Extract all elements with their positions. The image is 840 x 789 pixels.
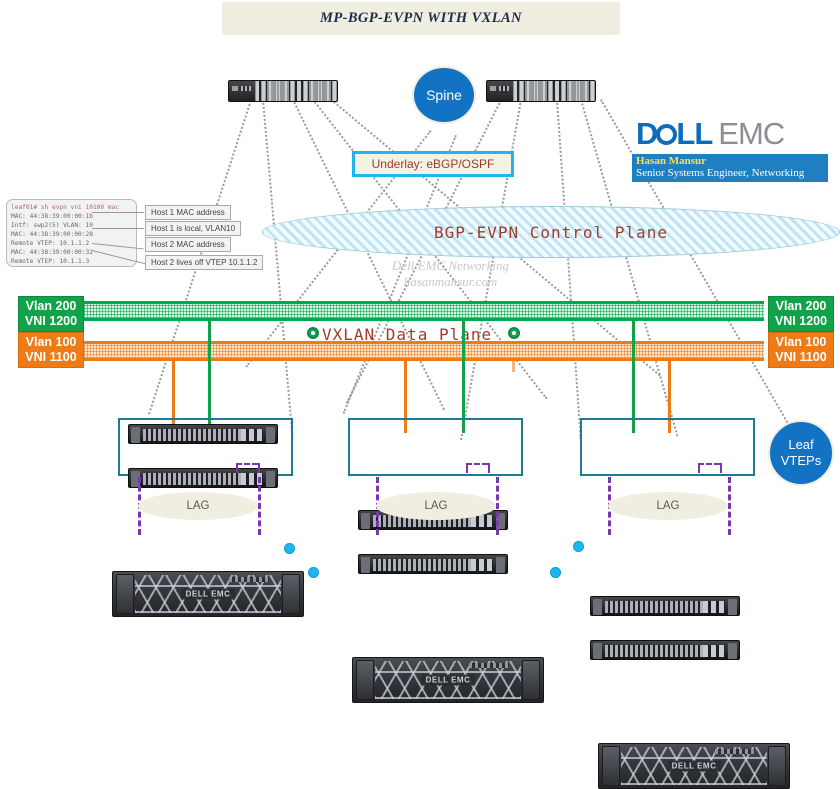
vlt-peer-link	[720, 463, 722, 473]
rack-ear	[361, 557, 370, 573]
underlay-callout-box: Underlay: eBGP/OSPF	[352, 151, 514, 177]
vxlan-segment-vni1200	[84, 301, 764, 321]
leaf-vtep-group-3	[580, 418, 755, 476]
leaf-vtep-group-2	[348, 418, 523, 476]
callout-label: Host 2 MAC address	[151, 240, 225, 249]
server-bay	[768, 746, 786, 786]
vni1200-downlink	[632, 318, 635, 433]
control-plane-label: BGP-EVPN Control Plane	[434, 223, 668, 242]
vlt-peer-link	[466, 463, 468, 473]
watermark-line-1: Dell EMC Networking	[392, 258, 509, 274]
lag-ellipse-3: LAG	[608, 492, 728, 520]
dell-letters-ll: LL	[676, 116, 712, 152]
leaf-switch-1a[interactable]	[128, 424, 278, 444]
vni1100-stub	[512, 358, 515, 372]
vlt-peer-link	[466, 463, 488, 465]
vtep-marker-right	[508, 327, 520, 339]
server-logo: DELL EMC	[668, 761, 721, 772]
switch-port-bank	[143, 429, 241, 441]
vlt-peer-link	[236, 463, 258, 465]
author-role: Senior Systems Engineer, Networking	[636, 167, 824, 180]
vni-id: VNI 1200	[25, 314, 77, 329]
cli-line: MAC: 44:38:39:00:00:1b	[11, 212, 132, 221]
vlan-id: Vlan 200	[776, 299, 827, 314]
lag-ellipse-1: LAG	[138, 492, 258, 520]
page-title-banner: MP-BGP-EVPN WITH VXLAN	[222, 2, 620, 35]
lag-member-link	[728, 477, 731, 535]
server-bay	[602, 746, 620, 786]
server-3[interactable]: DELL EMC	[598, 743, 790, 789]
leaf-vteps-label-bubble: Leaf VTEPs	[768, 420, 834, 486]
page-title: MP-BGP-EVPN WITH VXLAN	[320, 10, 522, 27]
lag-member-link	[258, 477, 261, 535]
rack-ear	[131, 427, 140, 443]
callout-host2-mac: Host 2 MAC address	[145, 237, 231, 252]
underlay-link	[556, 100, 582, 439]
switch-mgmt-panel	[229, 81, 256, 101]
dell-letter-d: D	[636, 116, 657, 152]
dell-emc-logo: DLL EMC Hasan Mansur Senior Systems Engi…	[632, 114, 828, 182]
lag-label: LAG	[424, 500, 447, 512]
server-status-leds	[469, 663, 509, 668]
vtep-marker-left	[307, 327, 319, 339]
switch-uplink-bank	[703, 645, 725, 657]
server-logo: DELL EMC	[182, 589, 235, 600]
leaf-switch-3a[interactable]	[590, 596, 740, 616]
leaf-vteps-line-1: Leaf	[788, 437, 813, 453]
cli-line: MAC: 44:38:39:00:00:28	[11, 230, 132, 239]
server-bay	[282, 574, 300, 614]
emc-wordmark: EMC	[718, 116, 784, 152]
host-indicator-dot	[550, 567, 561, 578]
lag-member-link	[496, 477, 499, 535]
leaf-switch-3b[interactable]	[590, 640, 740, 660]
vlan-id: Vlan 200	[26, 299, 77, 314]
rack-ear	[266, 427, 275, 443]
leaf-switch-2b[interactable]	[358, 554, 508, 574]
callout-leader	[92, 212, 144, 213]
vxlan-data-plane-label: VXLAN Data Plane	[322, 325, 492, 344]
rack-ear	[728, 599, 737, 615]
spine-switch-left[interactable]	[228, 80, 338, 102]
switch-port-bank	[513, 81, 595, 101]
lag-label: LAG	[656, 500, 679, 512]
server-status-leds	[715, 749, 755, 754]
callout-host1-mac: Host 1 MAC address	[145, 205, 231, 220]
callout-host2-vtep: Host 2 lives off VTEP 10.1.1.2	[145, 255, 263, 270]
vlan-200-right: Vlan 200 VNI 1200	[768, 296, 834, 332]
logo-mark: DLL EMC	[632, 114, 828, 154]
server-1[interactable]: DELL EMC	[112, 571, 304, 617]
switch-mgmt-panel	[487, 81, 514, 101]
switch-port-bank	[605, 601, 703, 613]
switch-uplink-bank	[703, 601, 725, 613]
underlay-link	[262, 100, 294, 439]
vlt-peer-link	[698, 463, 720, 465]
rack-ear	[728, 643, 737, 659]
vni-id: VNI 1100	[775, 350, 826, 365]
leaf-switch-1b[interactable]	[128, 468, 278, 488]
callout-host1-local: Host 1 is local, VLAN10	[145, 221, 241, 236]
watermark-line-2: hasanmansur.com	[392, 274, 509, 290]
vxlan-segment-vni1100	[84, 341, 764, 361]
vlt-peer-link	[236, 463, 238, 473]
switch-port-bank	[255, 81, 337, 101]
logo-name-banner: Hasan Mansur Senior Systems Engineer, Ne…	[632, 154, 828, 182]
vni1200-downlink	[462, 318, 465, 433]
switch-uplink-bank	[241, 429, 263, 441]
vni-id: VNI 1200	[775, 314, 827, 329]
spine-label-bubble: Spine	[412, 66, 476, 124]
cli-line: leaf01# sh evpn vni 10100 mac	[11, 203, 132, 212]
spine-label: Spine	[426, 87, 462, 103]
host-indicator-dot	[284, 543, 295, 554]
callout-label: Host 1 MAC address	[151, 208, 225, 217]
watermark: Dell EMC Networking hasanmansur.com	[392, 258, 509, 290]
vlt-peer-link	[698, 463, 700, 473]
lag-label: LAG	[186, 500, 209, 512]
switch-port-bank	[373, 559, 471, 571]
server-bay	[522, 660, 540, 700]
callout-label: Host 1 is local, VLAN10	[151, 224, 235, 233]
lag-ellipse-2: LAG	[376, 492, 496, 520]
rack-ear	[593, 643, 602, 659]
server-bay	[116, 574, 134, 614]
rack-ear	[361, 513, 370, 529]
vni1200-downlink	[208, 318, 211, 433]
vlan-100-right: Vlan 100 VNI 1100	[768, 332, 834, 368]
cli-line: Remote VTEP: 10.1.1.2	[11, 239, 132, 248]
rack-ear	[266, 471, 275, 487]
server-status-leds	[229, 577, 269, 582]
vlt-peer-link	[488, 463, 490, 473]
vlan-200-left: Vlan 200 VNI 1200	[18, 296, 84, 332]
server-2[interactable]: DELL EMC	[352, 657, 544, 703]
switch-uplink-bank	[471, 559, 493, 571]
dell-wordmark: DLL	[636, 116, 712, 152]
vlan-id: Vlan 100	[26, 335, 77, 350]
bgp-evpn-control-plane: BGP-EVPN Control Plane	[262, 206, 840, 258]
callout-label: Host 2 lives off VTEP 10.1.1.2	[151, 258, 257, 267]
switch-port-bank	[143, 473, 241, 485]
switch-uplink-bank	[471, 515, 493, 527]
vlan-id: Vlan 100	[776, 335, 827, 350]
vlt-peer-link	[258, 463, 260, 473]
server-bay	[356, 660, 374, 700]
switch-port-bank	[605, 645, 703, 657]
vlan-100-left: Vlan 100 VNI 1100	[18, 332, 84, 368]
vni-id: VNI 1100	[25, 350, 76, 365]
callout-leader	[92, 228, 144, 229]
underlay-label: Underlay: eBGP/OSPF	[372, 157, 495, 171]
host-indicator-dot	[573, 541, 584, 552]
server-logo: DELL EMC	[422, 675, 475, 686]
rack-ear	[496, 557, 505, 573]
leaf-vteps-line-2: VTEPs	[781, 453, 821, 469]
cli-line: Remote VTEP: 10.1.1.3	[11, 257, 132, 266]
vxlan-data-plane-text: VXLAN Data Plane	[322, 325, 492, 344]
rack-ear	[593, 599, 602, 615]
author-name: Hasan Mansur	[636, 155, 824, 167]
host-indicator-dot	[308, 567, 319, 578]
spine-switch-right[interactable]	[486, 80, 596, 102]
